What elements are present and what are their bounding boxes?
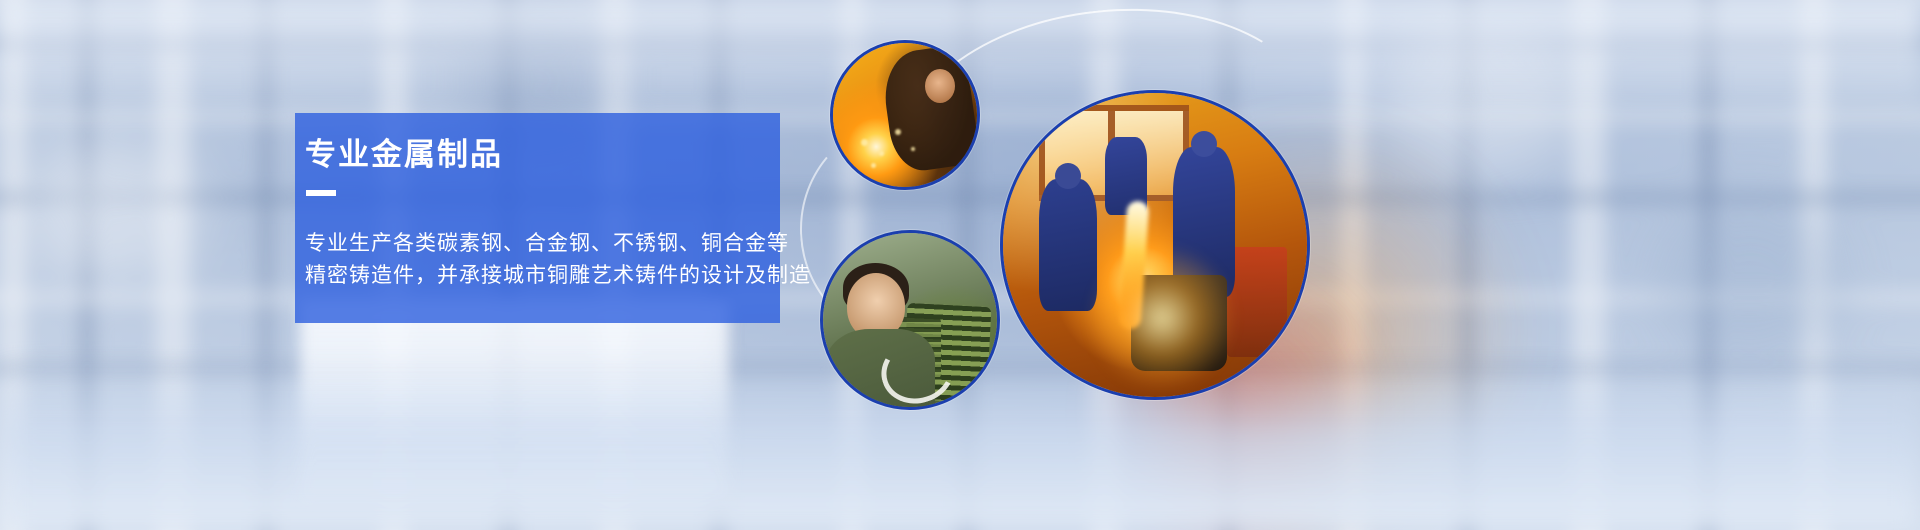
panel-description-line-2: 精密铸造件，并承接城市铜雕艺术铸件的设计及制造 — [305, 260, 1025, 292]
title-divider — [306, 190, 336, 196]
promo-banner: 专业金属制品 专业生产各类碳素钢、合金钢、不锈钢、铜合金等 精密铸造件，并承接城… — [0, 0, 1920, 530]
panel-description: 专业生产各类碳素钢、合金钢、不锈钢、铜合金等 精密铸造件，并承接城市铜雕艺术铸件… — [305, 228, 1025, 292]
panel-description-line-1: 专业生产各类碳素钢、合金钢、不锈钢、铜合金等 — [305, 228, 1025, 260]
panel-title: 专业金属制品 — [305, 135, 1005, 175]
foundry-photo-circle — [1000, 90, 1310, 400]
